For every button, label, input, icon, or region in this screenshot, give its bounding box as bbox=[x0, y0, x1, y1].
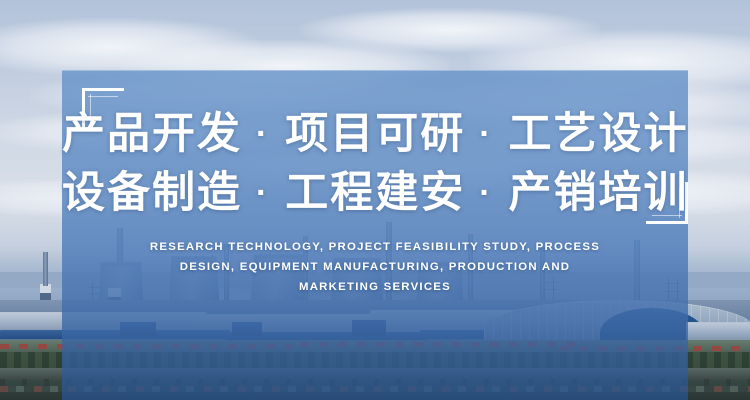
headline-line-1: 产品开发 · 项目可研 · 工艺设计 bbox=[62, 113, 688, 156]
headline-separator: · bbox=[479, 115, 494, 153]
headline-item: 产品开发 bbox=[62, 110, 242, 158]
headline-separator: · bbox=[256, 115, 271, 153]
subtitle: RESEARCH TECHNOLOGY, PROJECT FEASIBILITY… bbox=[110, 237, 640, 297]
headline-separator: · bbox=[479, 174, 494, 212]
industrial-services-banner: 产品开发 · 项目可研 · 工艺设计 设备制造 · 工程建安 · 产销培训 RE… bbox=[0, 0, 750, 400]
headline-item: 项目可研 bbox=[285, 110, 465, 158]
headline-item: 工艺设计 bbox=[508, 110, 688, 158]
headline-item: 产销培训 bbox=[508, 169, 688, 217]
headline-separator: · bbox=[256, 174, 271, 212]
headline-item: 工程建安 bbox=[285, 169, 465, 217]
headline-item: 设备制造 bbox=[62, 169, 242, 217]
subtitle-line: DESIGN, EQUIPMENT MANUFACTURING, PRODUCT… bbox=[110, 257, 640, 277]
headline-line-2: 设备制造 · 工程建安 · 产销培训 bbox=[62, 172, 688, 215]
subtitle-line: MARKETING SERVICES bbox=[110, 277, 640, 297]
subtitle-line: RESEARCH TECHNOLOGY, PROJECT FEASIBILITY… bbox=[110, 237, 640, 257]
